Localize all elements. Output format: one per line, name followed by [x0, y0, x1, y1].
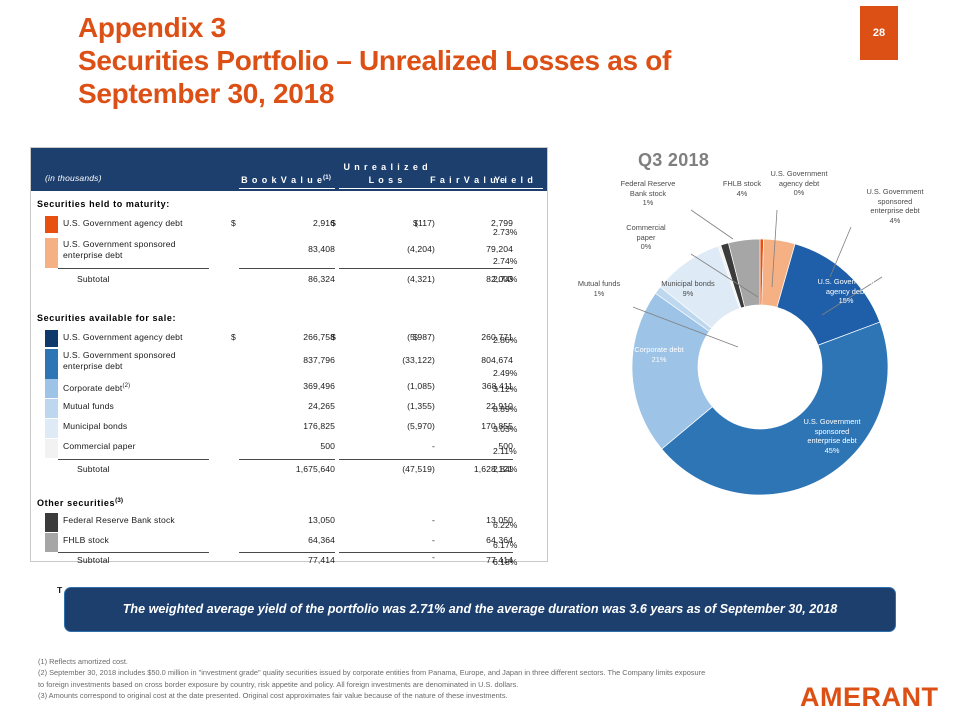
cell-book-value: 13,050	[265, 515, 335, 525]
cell-unrealized-loss: (5,987)	[365, 332, 435, 342]
cell-yield: 6.18%	[493, 557, 517, 567]
cell-yield: 2.11%	[493, 446, 517, 456]
footnotes: (1) Reflects amortized cost. (2) Septemb…	[38, 656, 918, 701]
section-rule	[58, 459, 209, 460]
table-row: Mutual funds 24,265 (1,355) 22,910 8.89%	[31, 399, 549, 419]
chart-label-us-government-sponsored-enterprise-debt-htm: U.S. Government sponsored enterprise deb…	[840, 187, 950, 225]
chart-label-mutual-funds: Mutual funds 1%	[560, 279, 638, 298]
cell-book-value: 369,496	[265, 381, 335, 391]
section-rule	[421, 459, 513, 460]
cell-yield: 3.12%	[493, 384, 517, 394]
footnote-3: (3) Amounts correspond to original cost …	[38, 690, 918, 701]
cell-fair-value: 79,204	[443, 244, 513, 254]
chart-label-us-government-agency-debt: U.S. Government agency debt 15%	[792, 277, 900, 306]
yield-rule	[487, 188, 543, 189]
cell-book-value: 77,414	[265, 555, 335, 565]
cell-unrealized-loss: -	[365, 535, 435, 545]
footnote-1: (1) Reflects amortized cost.	[38, 656, 918, 667]
cell-book-value: 83,408	[265, 244, 335, 254]
column-header-yield: Y i e l d	[483, 175, 545, 185]
section-rule	[239, 459, 335, 460]
row-label: U.S. Government sponsored	[63, 350, 176, 361]
section-rule	[239, 268, 335, 269]
cell-unrealized-loss: (33,122)	[365, 355, 435, 365]
section-title-other-securities: Other securities(3)	[37, 497, 123, 508]
cell-yield: 2.86%	[493, 335, 517, 345]
cell-unrealized-loss: (1,085)	[365, 381, 435, 391]
page-title: Appendix 3 Securities Portfolio – Unreal…	[78, 12, 838, 110]
footnote-2-line2: to foreign investments based on cross bo…	[38, 679, 918, 690]
table-body: Securities held to maturity: U.S. Govern…	[31, 191, 547, 561]
cell-yield: 3.03%	[493, 424, 517, 434]
footnote-ref-3: (3)	[115, 497, 123, 504]
chart-title: Q3 2018	[638, 150, 709, 171]
cell-book-value: 86,324	[265, 274, 335, 284]
table-row-subtotal: Subtotal 1,675,640 (47,519) 1,628,121 2.…	[31, 462, 549, 482]
row-label: Municipal bonds	[63, 421, 127, 432]
row-label: FHLB stock	[63, 535, 109, 546]
table-row: U.S. Government agency debt $ 2,916 $ (1…	[31, 215, 549, 235]
table-row-subtotal: Subtotal 86,324 (4,321) 82,003 2.74%	[31, 271, 549, 291]
chart-label-commercial-paper: Commercial paper 0%	[600, 223, 692, 252]
table-row: Corporate debt(2) 369,496 (1,085) 368,41…	[31, 379, 549, 399]
cell-book-value: 176,825	[265, 421, 335, 431]
cell-yield: 6.22%	[493, 520, 517, 530]
title-line-2: Securities Portfolio – Unrealized Losses…	[78, 45, 838, 78]
portfolio-composition-chart: Q3 2018 Federal Reserve Bank stock 1% Co…	[560, 147, 960, 557]
section-rule	[58, 268, 209, 269]
row-label: U.S. Government sponsored	[63, 239, 176, 250]
currency-symbol: $	[331, 218, 336, 228]
cell-book-value: 64,364	[265, 535, 335, 545]
securities-portfolio-table: (in thousands) B o o k V a l u e(1) U n …	[30, 147, 548, 562]
table-row: U.S. Government agency debt $ 266,758 $ …	[31, 329, 549, 349]
row-label: Corporate debt(2)	[63, 381, 130, 394]
footnote-ref-2: (2)	[122, 383, 130, 389]
chart-label-us-government-sponsored-enterprise-debt: U.S. Government sponsored enterprise deb…	[772, 417, 892, 455]
cell-unrealized-loss: -	[365, 552, 435, 562]
amerant-logo: AMERANT	[800, 682, 939, 713]
cell-fair-value: 804,674	[443, 355, 513, 365]
cell-book-value: 837,796	[265, 355, 335, 365]
cell-yield: 6.17%	[493, 540, 517, 550]
chart-label-corporate-debt: Corporate debt 21%	[604, 345, 714, 364]
book-value-rule	[239, 188, 335, 189]
color-swatch	[45, 399, 58, 418]
footnote-ref-1: (1)	[323, 174, 331, 181]
cell-unrealized-loss: (4,204)	[365, 244, 435, 254]
title-line-1: Appendix 3	[78, 12, 838, 45]
cell-book-value: 2,916	[265, 218, 335, 228]
color-swatch	[45, 513, 58, 532]
table-row: Commercial paper 500 - 500 2.11%	[31, 439, 549, 459]
cell-unrealized-loss: -	[365, 515, 435, 525]
cell-unrealized-loss: -	[365, 441, 435, 451]
row-label: U.S. Government agency debt	[63, 332, 183, 343]
cell-unrealized-loss: (4,321)	[365, 274, 435, 284]
row-label: Subtotal	[77, 274, 110, 285]
cell-yield: 2.73%	[493, 227, 517, 237]
cell-unrealized-loss: (47,519)	[365, 464, 435, 474]
cell-book-value: 500	[265, 441, 335, 451]
color-swatch	[45, 379, 58, 398]
cell-yield: 2.74%	[493, 274, 517, 284]
chart-label-federal-reserve-bank-stock: Federal Reserve Bank stock 1%	[598, 179, 698, 208]
row-label-cont: enterprise debt	[63, 250, 123, 261]
cell-yield: 2.84%	[493, 464, 517, 474]
section-title-available-for-sale: Securities available for sale:	[37, 313, 176, 323]
row-label: Subtotal	[77, 464, 110, 475]
row-label-cont: enterprise debt	[63, 361, 123, 372]
cell-unrealized-loss: (5,970)	[365, 421, 435, 431]
color-swatch	[45, 439, 58, 458]
section-rule	[421, 268, 513, 269]
cell-yield: 2.74%	[493, 256, 517, 266]
color-swatch	[45, 533, 58, 552]
row-label: U.S. Government agency debt	[63, 218, 183, 229]
page-number-badge: 28	[860, 6, 898, 60]
color-swatch	[45, 216, 58, 233]
table-row: Federal Reserve Bank stock 13,050 - 13,0…	[31, 513, 549, 533]
cell-yield: 8.89%	[493, 404, 517, 414]
currency-symbol: $	[413, 218, 418, 228]
table-header-row: (in thousands) B o o k V a l u e(1) U n …	[31, 148, 547, 191]
color-swatch	[45, 349, 58, 379]
table-units-note: (in thousands)	[45, 173, 102, 183]
row-label: Federal Reserve Bank stock	[63, 515, 175, 526]
currency-symbol: $	[413, 332, 418, 342]
currency-symbol: $	[331, 332, 336, 342]
column-header-unrealized-line1: U n r e a l i z e d	[331, 162, 441, 172]
chart-label-municipal-bonds: Municipal bonds 9%	[640, 279, 736, 298]
cell-unrealized-loss: (1,355)	[365, 401, 435, 411]
table-row-subtotal: Subtotal 77,414 - 77,414 6.18%	[31, 553, 549, 573]
weighted-average-yield-callout: The weighted average yield of the portfo…	[64, 587, 896, 632]
cell-unrealized-loss: (117)	[365, 218, 435, 228]
table-row: U.S. Government sponsored enterprise deb…	[31, 238, 549, 266]
cell-book-value: 1,675,640	[265, 464, 335, 474]
currency-symbol: $	[231, 332, 236, 342]
table-row: FHLB stock 64,364 - 64,364 6.17%	[31, 533, 549, 553]
row-label: Mutual funds	[63, 401, 114, 412]
slide-header: Appendix 3 Securities Portfolio – Unreal…	[0, 0, 960, 120]
color-swatch	[45, 419, 58, 438]
cell-yield: 2.49%	[493, 368, 517, 378]
cell-book-value: 24,265	[265, 401, 335, 411]
color-swatch	[45, 238, 58, 268]
currency-symbol: $	[231, 218, 236, 228]
cell-book-value: 266,758	[265, 332, 335, 342]
color-swatch	[45, 330, 58, 347]
title-line-3: September 30, 2018	[78, 78, 838, 111]
table-row: U.S. Government sponsored enterprise deb…	[31, 349, 549, 377]
column-header-book-value: B o o k V a l u e(1)	[231, 174, 341, 185]
section-title-held-to-maturity: Securities held to maturity:	[37, 199, 170, 209]
footnote-2-line1: (2) September 30, 2018 includes $50.0 mi…	[38, 667, 918, 678]
row-label: Commercial paper	[63, 441, 136, 452]
table-row: Municipal bonds 176,825 (5,970) 170,855 …	[31, 419, 549, 439]
chart-label-us-government-agency-debt-htm: U.S. Government agency debt 0%	[746, 169, 852, 198]
row-label: Subtotal	[77, 555, 110, 566]
